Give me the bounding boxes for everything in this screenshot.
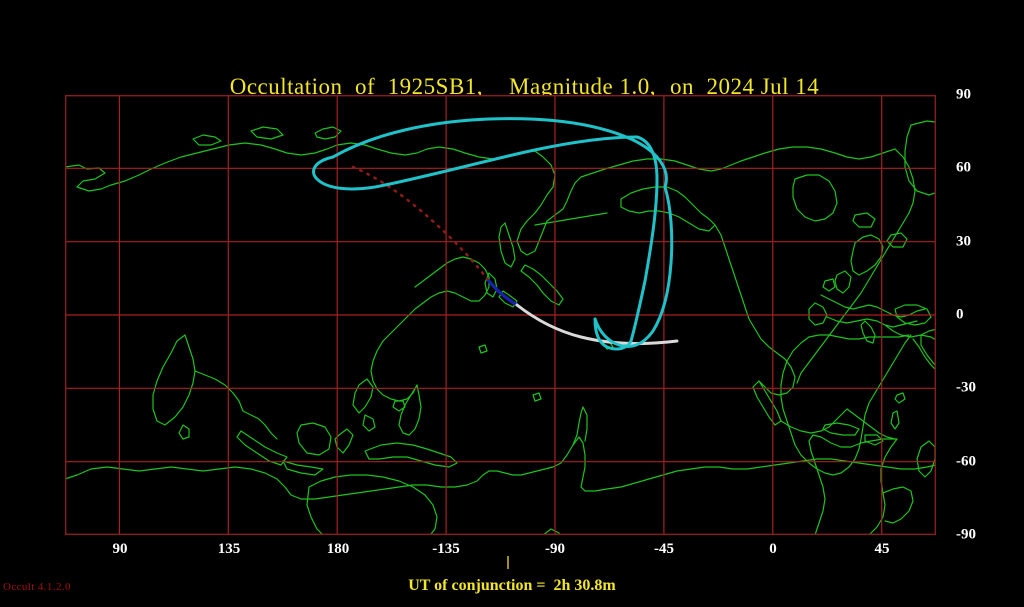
lon-tick--135: -135 xyxy=(432,541,460,558)
lat-tick--90: -90 xyxy=(956,527,976,544)
lat-tick-60: 60 xyxy=(956,160,971,177)
occultation-map-window: Occultation of 1925SB1,Magnitude 1.0,on … xyxy=(0,0,1024,607)
app-watermark: Occult 4.1.2.0 xyxy=(3,581,71,593)
lat-tick-30: 30 xyxy=(956,234,971,251)
conjunction-caption: UT of conjunction = 2h 30.8m xyxy=(0,577,1024,595)
lon-tick-90: 90 xyxy=(113,541,128,558)
lat-tick--30: -30 xyxy=(956,380,976,397)
world-map[interactable] xyxy=(65,95,936,535)
lon-tick-45: 45 xyxy=(875,541,890,558)
lon-tick-135: 135 xyxy=(218,541,241,558)
lat-tick-0: 0 xyxy=(956,307,964,324)
lat-tick--60: -60 xyxy=(956,454,976,471)
lat-tick-90: 90 xyxy=(956,87,971,104)
centre-tick-mark xyxy=(507,556,509,569)
lon-tick-0: 0 xyxy=(769,541,777,558)
lon-tick-180: 180 xyxy=(327,541,350,558)
map-canvas[interactable] xyxy=(65,95,936,535)
lon-tick--90: -90 xyxy=(545,541,565,558)
lon-tick--45: -45 xyxy=(654,541,674,558)
